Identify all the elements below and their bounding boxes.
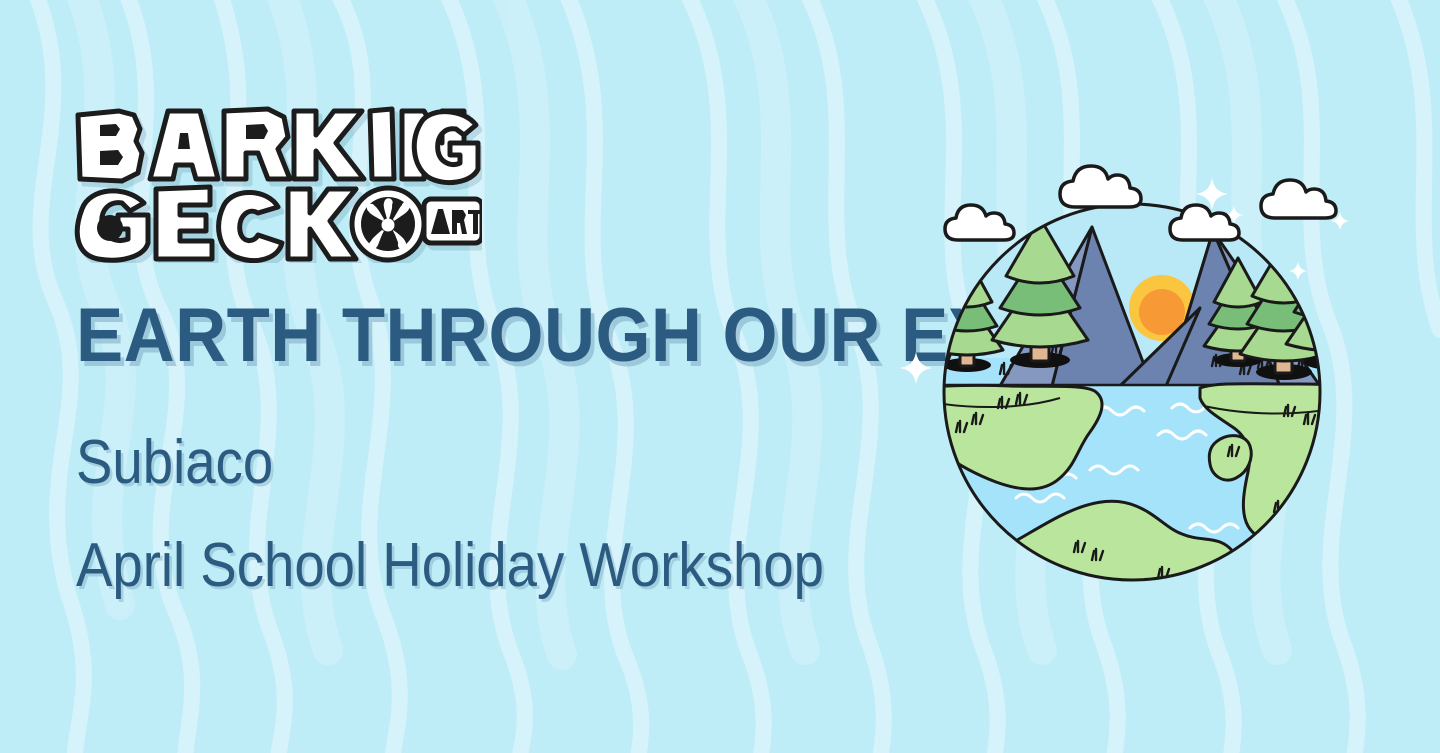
earth-globe-landscape-illustration bbox=[900, 160, 1365, 625]
tree-tier-top bbox=[1300, 222, 1365, 287]
event-promo-banner: EARTH THROUGH OUR EYES Subiaco April Sch… bbox=[0, 0, 1440, 753]
logo-arts-badge bbox=[424, 199, 482, 243]
tree-tier-middle bbox=[1294, 250, 1365, 319]
tree-shadow bbox=[1304, 354, 1364, 370]
poster-text-block: EARTH THROUGH OUR EYES Subiaco April Sch… bbox=[76, 300, 896, 598]
sparkle-icon bbox=[900, 352, 932, 384]
grass-tuft bbox=[1342, 355, 1353, 366]
logo-line-barking bbox=[78, 109, 478, 183]
sparkle-icon bbox=[1289, 262, 1307, 280]
cloud bbox=[945, 205, 1014, 240]
logo-arts-badge-text bbox=[431, 209, 482, 234]
barking-gecko-arts-logo[interactable] bbox=[72, 103, 482, 263]
tree-right-large bbox=[1286, 222, 1365, 370]
cloud bbox=[1060, 166, 1141, 207]
page-title: EARTH THROUGH OUR EYES bbox=[76, 300, 839, 372]
event-location: Subiaco bbox=[76, 430, 798, 495]
globe bbox=[909, 180, 1365, 625]
tree-trunk bbox=[1325, 330, 1343, 363]
cloud bbox=[1261, 180, 1336, 218]
event-program: April School Holiday Workshop bbox=[76, 533, 798, 598]
logo-line-gecko-counters bbox=[97, 215, 123, 241]
